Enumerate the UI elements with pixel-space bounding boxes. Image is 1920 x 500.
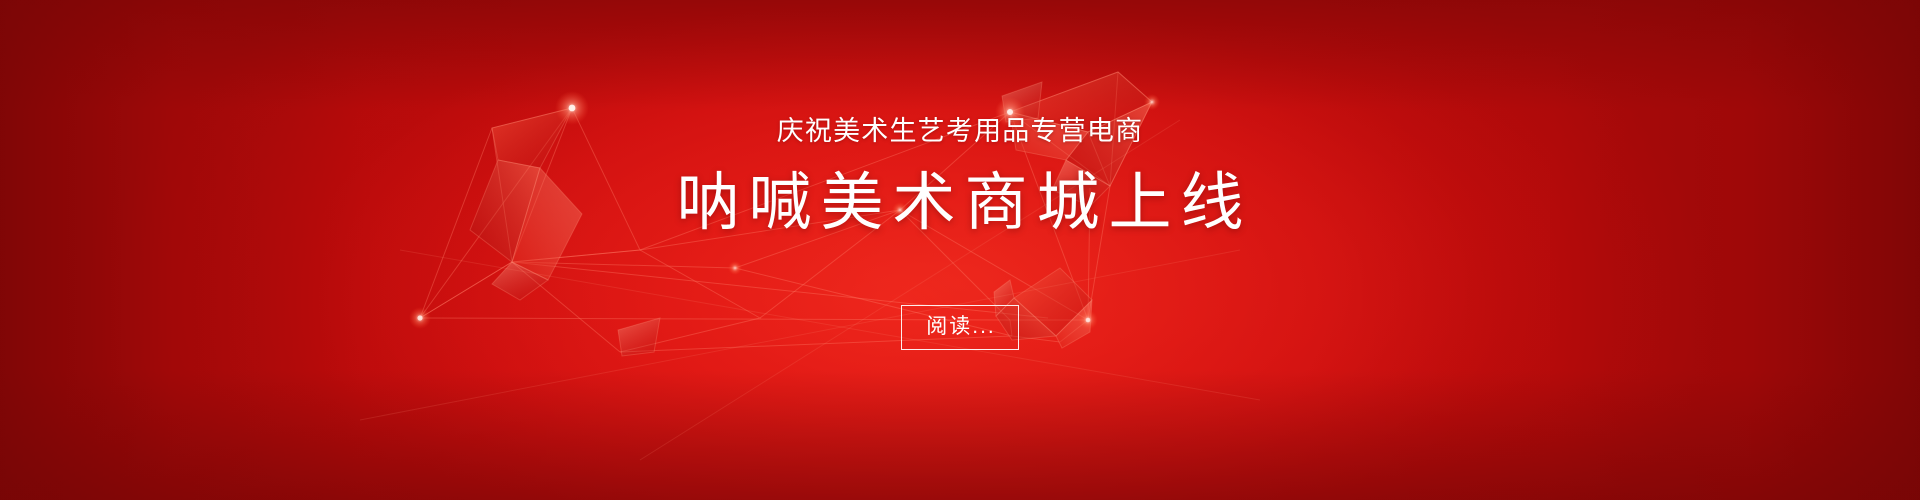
cta-wrapper: 阅读... xyxy=(901,305,1019,350)
banner-content: 庆祝美术生艺考用品专营电商 呐喊美术商城上线 阅读... xyxy=(0,0,1920,500)
banner-subtitle: 庆祝美术生艺考用品专营电商 xyxy=(777,118,1144,145)
banner-headline: 呐喊美术商城上线 xyxy=(668,169,1253,237)
promo-banner: 庆祝美术生艺考用品专营电商 呐喊美术商城上线 阅读... xyxy=(0,0,1920,500)
read-more-button[interactable]: 阅读... xyxy=(901,305,1019,350)
